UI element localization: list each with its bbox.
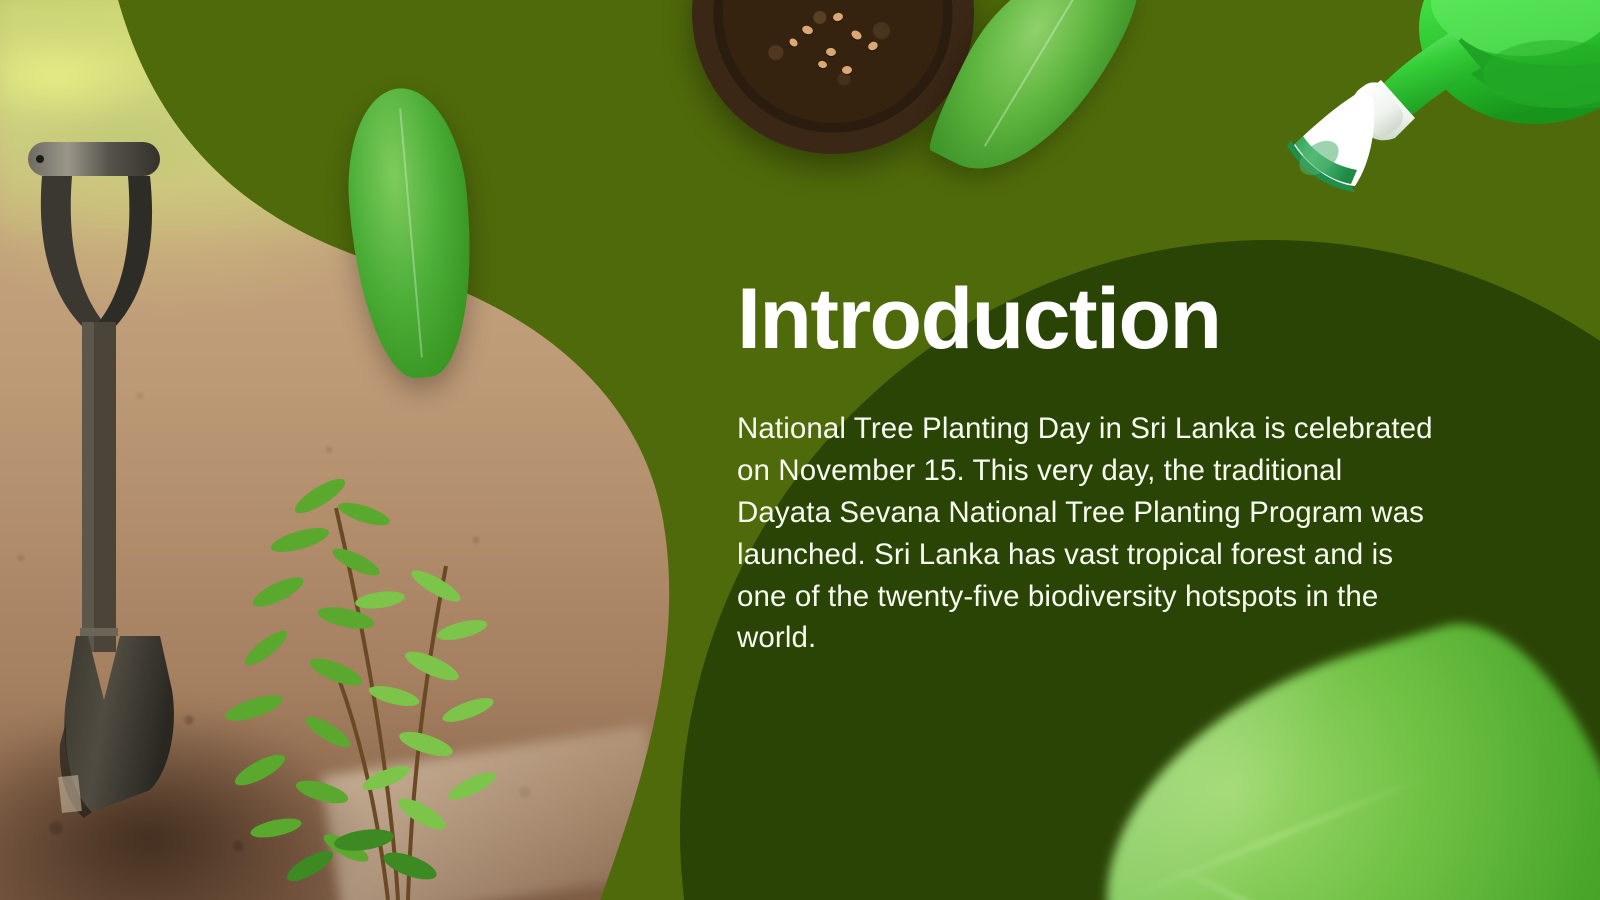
seed xyxy=(867,40,880,52)
seed xyxy=(826,48,837,57)
page-title: Introduction xyxy=(737,276,1449,362)
slide-introduction: Introduction National Tree Planting Day … xyxy=(0,0,1600,900)
seed xyxy=(841,65,852,74)
slide-content: Introduction National Tree Planting Day … xyxy=(737,276,1449,659)
pot-soil xyxy=(723,0,943,123)
seed xyxy=(788,37,799,48)
seed xyxy=(849,28,863,41)
body-paragraph: National Tree Planting Day in Sri Lanka … xyxy=(737,362,1437,659)
sapling-plant xyxy=(150,300,630,900)
seed xyxy=(832,12,844,22)
seed xyxy=(801,25,814,36)
watering-can-icon xyxy=(1255,0,1600,220)
seed xyxy=(817,60,828,69)
